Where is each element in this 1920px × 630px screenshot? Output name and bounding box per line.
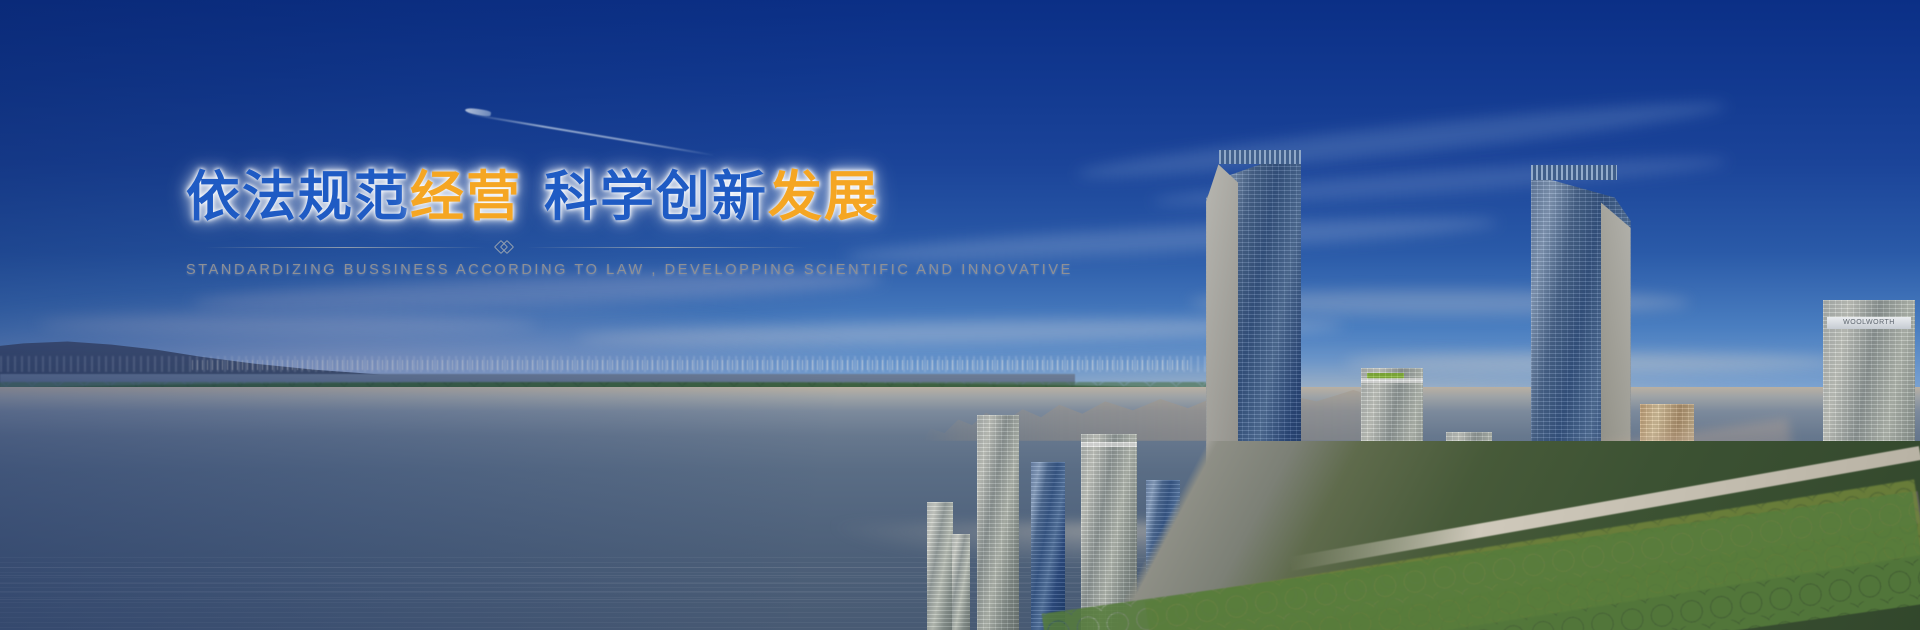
banner-headline: 依法规范经营科学创新发展 bbox=[186, 168, 826, 225]
banner-subtitle: STANDARDIZING BUSSINESS ACCORDING TO LAW… bbox=[186, 262, 826, 278]
diamond-ornament-icon bbox=[496, 241, 516, 253]
decorative-divider bbox=[205, 241, 807, 253]
building-sign-label: WOOLWORTH bbox=[1827, 317, 1912, 329]
headline-segment-3: 科学创新 bbox=[544, 165, 768, 228]
headline-segment-4: 发展 bbox=[768, 165, 880, 228]
divider-rule-right bbox=[526, 247, 807, 248]
headline-segment-2: 经营 bbox=[410, 165, 522, 228]
divider-rule-left bbox=[205, 247, 486, 248]
banner-copy-block: 依法规范经营科学创新发展 STANDARDIZING BUSSINESS ACC… bbox=[186, 168, 826, 278]
hero-banner: WOOLWORTH 依法规范经营科学创新发展 STANDARDIZING BUS… bbox=[0, 0, 1920, 630]
headline-segment-1: 依法规范 bbox=[186, 165, 410, 228]
city-skyline: WOOLWORTH bbox=[922, 0, 1920, 630]
